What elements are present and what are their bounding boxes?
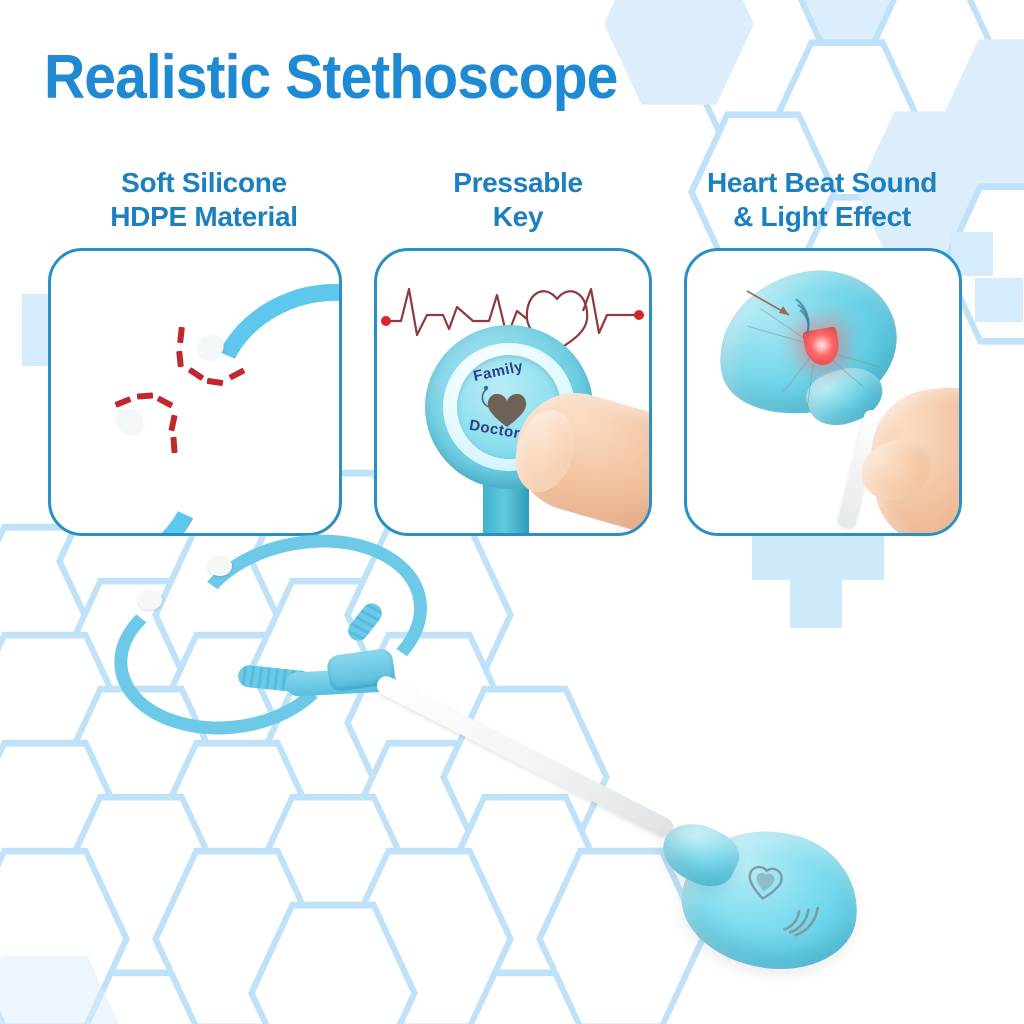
feature-label-soft-silicone: Soft Silicone HDPE Material: [54, 166, 354, 234]
hexagon-decor: [857, 0, 1007, 156]
flex-dash: [176, 351, 184, 368]
feature-label-pressable-key: Pressable Key: [378, 166, 658, 234]
flex-dash: [177, 327, 185, 344]
feature-label-line1: Soft Silicone: [54, 166, 354, 200]
feature-label-line1: Pressable: [378, 166, 658, 200]
ecg-endpoint-dot: [381, 316, 391, 326]
ear-tip-left: [138, 590, 162, 610]
pointer-arrow-icon: [745, 289, 805, 329]
flex-dash: [137, 392, 153, 399]
feature-label-heart-beat-sound: Heart Beat Sound & Light Effect: [672, 166, 972, 234]
hexagon-decor: [604, 0, 754, 108]
infographic-page: Realistic Stethoscope Soft Silicone HDPE…: [0, 0, 1024, 1024]
ear-tube-right-icon: [181, 252, 342, 507]
feature-panel-heart-beat-sound: [684, 248, 962, 536]
feature-label-line1: Heart Beat Sound: [672, 166, 972, 200]
ear-tip-right: [208, 556, 232, 576]
flex-dash: [188, 367, 205, 381]
feature-label-line2: & Light Effect: [672, 200, 972, 234]
panel-illustration-heart-beat-sound: [687, 251, 959, 533]
hexagon-decor: [688, 0, 838, 156]
product-photo: [90, 520, 930, 990]
feature-label-line2: HDPE Material: [54, 200, 354, 234]
ear-tube-left-icon: [48, 363, 230, 536]
ecg-endpoint-dot: [634, 310, 644, 320]
feature-panel-pressable-key: Family Doctor: [374, 248, 652, 536]
square-tab-decor: [975, 278, 1023, 322]
hexagon-decor: [772, 0, 922, 108]
feature-panel-soft-silicone: [48, 248, 342, 536]
panel-illustration-pressable-key: Family Doctor: [377, 251, 649, 533]
feature-label-line2: Key: [378, 200, 658, 234]
sound-wave-icon: [777, 895, 828, 943]
flex-dash: [170, 437, 177, 453]
page-title: Realistic Stethoscope: [44, 42, 617, 113]
white-tubing: [374, 673, 677, 840]
panel-illustration-soft-silicone: [51, 251, 339, 533]
